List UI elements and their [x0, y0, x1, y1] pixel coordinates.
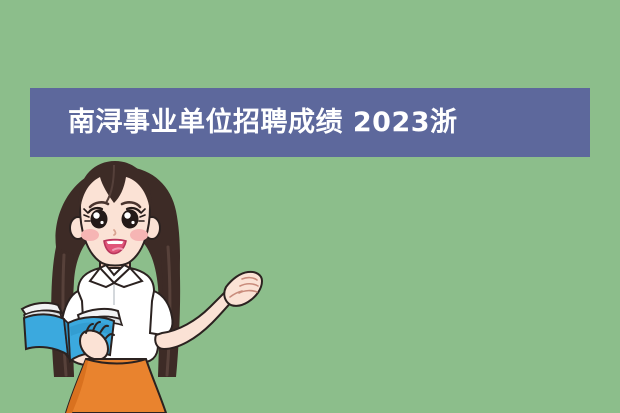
page-title: 南浔事业单位招聘成绩 2023浙	[68, 109, 458, 136]
book-cover-left	[24, 314, 68, 355]
blush-left	[81, 229, 99, 241]
illustration-cartoon-girl	[18, 155, 278, 413]
title-banner: 南浔事业单位招聘成绩 2023浙	[30, 88, 590, 157]
blush-right	[130, 229, 148, 241]
page-canvas: 南浔事业单位招聘成绩 2023浙	[0, 0, 620, 413]
hand-right	[224, 272, 262, 306]
